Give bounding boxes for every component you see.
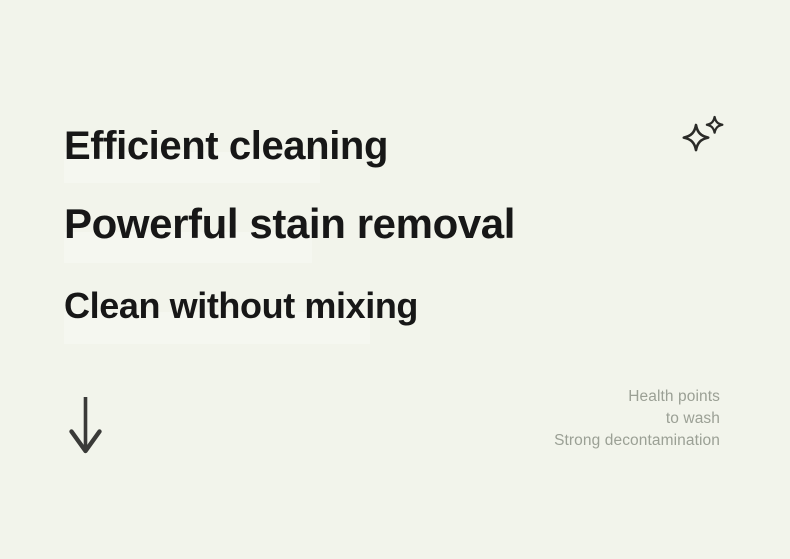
headline-powerful-stain-removal: Powerful stain removal [64, 203, 515, 245]
slide-canvas: Efficient cleaning Powerful stain remova… [0, 0, 790, 559]
headline-clean-without-mixing: Clean without mixing [64, 288, 418, 324]
caption-block: Health points to wash Strong decontamina… [554, 386, 720, 452]
caption-line-1: Health points [554, 386, 720, 408]
headline-efficient-cleaning: Efficient cleaning [64, 126, 388, 166]
caption-line-3: Strong decontamination [554, 430, 720, 452]
sparkle-icon [681, 115, 725, 157]
arrow-down-icon [68, 393, 104, 457]
caption-line-2: to wash [554, 408, 720, 430]
